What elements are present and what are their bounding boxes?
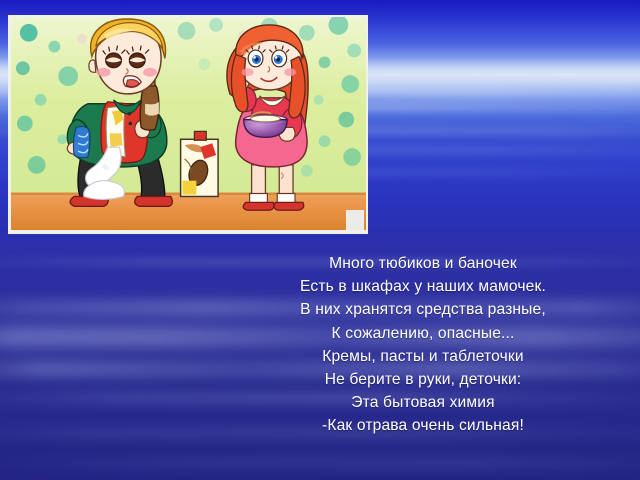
children-with-household-chemicals-illustration (11, 17, 366, 230)
slide-canvas: Много тюбиков и баночек Есть в шкафах у … (0, 0, 640, 480)
chemical-box (181, 131, 218, 196)
image-corner-patch (346, 210, 364, 230)
slide-image-frame (8, 15, 368, 234)
slide-image (11, 17, 366, 230)
poem-text-block: Много тюбиков и баночек Есть в шкафах у … (243, 252, 603, 438)
poem-line: Не берите в руки, деточки: (243, 368, 603, 391)
poem-line: В них хранятся средства разные, (243, 298, 603, 321)
poem-line: Есть в шкафах у наших мамочек. (243, 275, 603, 298)
poem-line: Много тюбиков и баночек (243, 252, 603, 275)
poem-line: Кремы, пасты и таблеточки (243, 345, 603, 368)
poem-line: -Как отрава очень сильная! (243, 414, 603, 437)
poem-line: Эта бытовая химия (243, 391, 603, 414)
poem-line: К сожалению, опасные... (243, 322, 603, 345)
open-cream-jar (244, 112, 287, 137)
